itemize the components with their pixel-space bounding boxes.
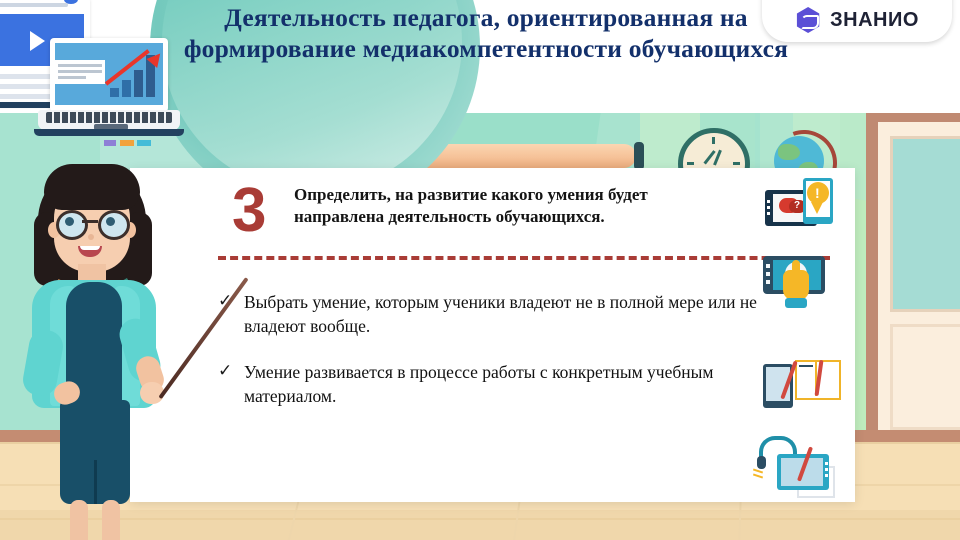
earcup-left [757, 456, 766, 469]
screen-line-2 [58, 70, 102, 73]
tablet-dot-2 [766, 272, 770, 276]
color-chip-purple [104, 140, 116, 146]
notebook-line [799, 365, 813, 367]
sound-wave-1 [753, 469, 763, 474]
list-item: ✓ Выбрать умение, которым ученики владею… [218, 290, 778, 338]
tablet-dot-1 [825, 462, 828, 465]
checkmark-icon: ✓ [218, 359, 232, 383]
wrist-band [785, 298, 807, 308]
touch-tablet-hand-icon [755, 254, 845, 316]
question-answer-tablet-icon: ? ! [755, 178, 845, 240]
step-number: 3 [232, 180, 266, 242]
laptop-foot [34, 129, 184, 136]
text-line-2 [0, 84, 56, 89]
blind-cap-right [634, 142, 644, 170]
card-top-bar [0, 3, 68, 7]
clock-tick-right [733, 162, 740, 165]
slide: Деятельность педагога, ориентированная н… [0, 0, 960, 540]
tablet-dot-3 [766, 280, 770, 284]
bullet-list: ✓ Выбрать умение, которым ученики владею… [218, 290, 778, 430]
sound-wave-2 [753, 474, 763, 479]
tablet-notebook-pencil-icon [755, 356, 845, 418]
door-glass-panel [890, 136, 960, 312]
exclamation-glyph: ! [815, 185, 820, 201]
screen-line-3 [58, 76, 86, 79]
znanio-hexagon-icon [795, 7, 821, 33]
question-mark-glyph: ? [794, 200, 800, 211]
icon-column: ? ! [755, 172, 851, 498]
list-item-text: Выбрать умение, которым ученики владеют … [244, 292, 757, 336]
headphones-tablet-pencil-icon [755, 436, 845, 498]
brand-logo[interactable]: ЗНАНИО [762, 0, 952, 42]
brand-logo-label: ЗНАНИО [830, 9, 919, 32]
tablet-dot-1 [766, 264, 770, 268]
nose [88, 234, 94, 240]
hair-fringe [44, 164, 140, 210]
leg-left [70, 500, 88, 540]
dashed-divider [218, 256, 830, 260]
laptop-keyboard [46, 112, 172, 123]
growth-arrow-icon [108, 52, 160, 92]
teacher-character-with-pointer [10, 160, 200, 540]
hand-icon [783, 270, 809, 300]
tablet-dot-1 [767, 200, 770, 203]
tablet-dot-3 [825, 474, 828, 477]
color-chip-orange [120, 140, 134, 146]
door-lower-panel [890, 324, 960, 430]
leg-right [102, 500, 120, 540]
card-heading: Определить, на развитие какого умения бу… [294, 184, 714, 228]
glasses-bridge [82, 220, 98, 223]
clock-tick-top [712, 137, 715, 144]
clock-tick-left [687, 162, 694, 165]
list-item: ✓ Умение развивается в процессе работы с… [218, 360, 778, 408]
tablet-dot-2 [767, 206, 770, 209]
screen-line-1 [58, 64, 102, 67]
laptop-illustration-group [0, 0, 207, 161]
glasses-right-lens [98, 210, 130, 240]
page-title: Деятельность педагога, ориентированная н… [176, 2, 796, 64]
list-item-text: Умение развивается в процессе работы с к… [244, 362, 713, 406]
eye-left [65, 217, 74, 226]
tablet-dot-3 [767, 212, 770, 215]
eye-right [106, 217, 115, 226]
laptop-growth-chart-icon [50, 38, 172, 138]
tablet-dot-2 [825, 468, 828, 471]
play-icon [30, 31, 45, 51]
color-chip-cyan [137, 140, 151, 146]
skirt-split [94, 460, 97, 504]
content-card: 3 Определить, на развитие какого умения … [130, 168, 855, 502]
